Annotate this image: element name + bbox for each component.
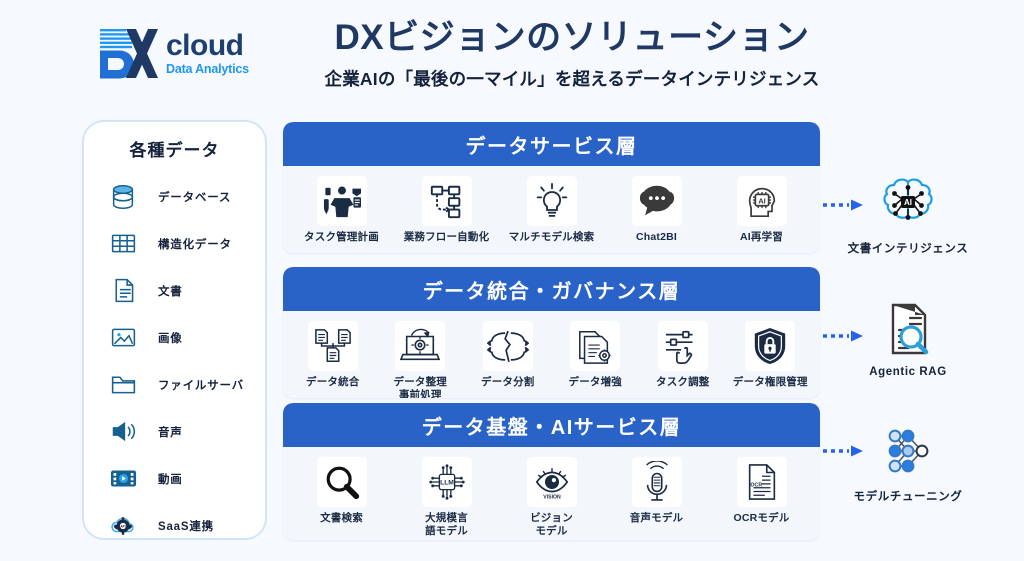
cell-label: 文書検索 xyxy=(320,512,363,525)
sidebar-item-structured-data[interactable]: 構造化データ xyxy=(84,220,265,267)
cell-label: 大規模言 語モデル xyxy=(425,512,468,538)
infographic-page: cloud Data Analytics DXビジョンのソリューション 企業AI… xyxy=(0,0,1024,561)
shield-lock-icon xyxy=(745,321,795,371)
layer-data-platform-ai: データ基盤・AIサービス層 文書検索 LLM xyxy=(283,403,820,540)
image-icon xyxy=(106,321,140,355)
vision-eye-icon: VISION xyxy=(527,457,577,507)
speaker-icon xyxy=(106,415,140,449)
svg-text:API: API xyxy=(120,524,125,528)
sidebar-item-database[interactable]: データベース xyxy=(84,173,265,220)
cell-workflow-automation[interactable]: 業務フロー自動化 xyxy=(401,176,493,244)
workflow-automation-icon xyxy=(422,176,472,226)
cell-label: データ増強 xyxy=(569,376,623,389)
sidebar-item-audio[interactable]: 音声 xyxy=(84,408,265,455)
cell-ocr-model[interactable]: OCR OCRモデル xyxy=(716,457,808,525)
output-model-tuning[interactable]: モデルチューニング xyxy=(833,420,983,504)
folder-icon xyxy=(106,368,140,402)
sidebar-item-label: 文書 xyxy=(158,283,183,299)
cell-label: Chat2BI xyxy=(636,231,677,244)
chat-headset-icon xyxy=(632,176,682,226)
magnifier-icon xyxy=(317,457,367,507)
cell-task-planning[interactable]: タスク管理計画 xyxy=(296,176,388,244)
cell-chat2bi[interactable]: Chat2BI xyxy=(611,176,703,244)
neural-network-icon xyxy=(877,420,939,482)
layer-title: データ基盤・AIサービス層 xyxy=(422,411,682,440)
cell-vision-model[interactable]: VISION ビジョン モデル xyxy=(506,457,598,538)
microphone-icon xyxy=(632,457,682,507)
lightbulb-icon xyxy=(527,176,577,226)
sidebar-item-saas[interactable]: API SaaS連携 xyxy=(84,502,265,549)
cell-label: データ権限管理 xyxy=(733,376,808,389)
layer-items: タスク管理計画 業務フロー自動化 xyxy=(283,166,820,253)
output-label: モデルチューニング xyxy=(854,488,963,504)
cell-data-preprocessing[interactable]: データ整理 事前処理 xyxy=(377,321,465,398)
cell-label: マルチモデル検索 xyxy=(509,231,595,244)
cloud-gear-icon: API xyxy=(106,509,140,543)
cell-data-integration[interactable]: データ統合 xyxy=(289,321,377,389)
svg-text:LLM: LLM xyxy=(440,479,454,486)
video-film-icon xyxy=(106,462,140,496)
sidebar-item-label: 構造化データ xyxy=(158,236,232,252)
cell-document-search[interactable]: 文書検索 xyxy=(296,457,388,525)
split-arrows-icon xyxy=(483,321,533,371)
cell-label: データ統合 xyxy=(306,376,360,389)
cell-label: OCRモデル xyxy=(733,512,789,525)
cell-multimodel-search[interactable]: マルチモデル検索 xyxy=(506,176,598,244)
layer-items: データ統合 データ整理 事前処理 xyxy=(283,311,820,398)
layer-header: データ統合・ガバナンス層 xyxy=(283,267,820,311)
cell-label: データ分割 xyxy=(481,376,535,389)
laptop-gear-icon xyxy=(395,321,445,371)
sidebar-item-label: SaaS連携 xyxy=(158,518,214,534)
cell-label: タスク管理計画 xyxy=(304,231,379,244)
task-planning-icon xyxy=(317,176,367,226)
sidebar-item-image[interactable]: 画像 xyxy=(84,314,265,361)
layer-header: データサービス層 xyxy=(283,122,820,166)
cell-label: 業務フロー自動化 xyxy=(404,231,490,244)
logo-wordmark: cloud Data Analytics xyxy=(166,31,249,76)
layer-header: データ基盤・AIサービス層 xyxy=(283,403,820,447)
sidebar-list: データベース 構造化データ xyxy=(84,173,265,549)
llm-chip-icon: LLM xyxy=(422,457,472,507)
ai-head-chip-icon: AI xyxy=(737,176,787,226)
brand-logo: cloud Data Analytics xyxy=(96,22,276,84)
sidebar-title: 各種データ xyxy=(84,136,265,161)
layer-title: データ統合・ガバナンス層 xyxy=(423,275,681,304)
svg-text:AI: AI xyxy=(904,198,912,207)
cell-task-adjustment[interactable]: タスク調整 xyxy=(639,321,727,389)
logo-tagline: Data Analytics xyxy=(166,63,249,76)
cell-speech-model[interactable]: 音声モデル xyxy=(611,457,703,525)
cell-label: データ整理 事前処理 xyxy=(394,376,448,398)
page-header: cloud Data Analytics DXビジョンのソリューション 企業AI… xyxy=(0,0,1024,110)
sidebar-item-label: 音声 xyxy=(158,424,183,440)
output-agentic-rag[interactable]: Agentic RAG xyxy=(833,298,983,378)
sidebar-item-label: 画像 xyxy=(158,330,183,346)
svg-text:OCR: OCR xyxy=(750,483,762,489)
dx-logo-icon xyxy=(96,25,158,81)
cell-label: タスク調整 xyxy=(656,376,710,389)
sidebar-item-video[interactable]: 動画 xyxy=(84,455,265,502)
cell-llm[interactable]: LLM 大規模言 語モデル xyxy=(401,457,493,538)
data-sources-panel: 各種データ データベース xyxy=(82,120,267,540)
cell-ai-retraining[interactable]: AI AI再学習 xyxy=(716,176,808,244)
cell-data-augmentation[interactable]: データ増強 xyxy=(552,321,640,389)
database-icon xyxy=(106,180,140,214)
document-icon xyxy=(106,274,140,308)
data-merge-icon xyxy=(308,321,358,371)
layer-data-governance: データ統合・ガバナンス層 xyxy=(283,267,820,398)
sidebar-item-document[interactable]: 文書 xyxy=(84,267,265,314)
sidebar-item-file-server[interactable]: ファイルサーバ xyxy=(84,361,265,408)
logo-word: cloud xyxy=(166,31,249,61)
page-title: DXビジョンのソリューション xyxy=(272,18,872,58)
brain-ai-icon: AI xyxy=(877,172,939,234)
title-block: DXビジョンのソリューション 企業AIの「最後の一マイル」を超えるデータインテリ… xyxy=(272,18,872,91)
output-label: 文書インテリジェンス xyxy=(848,240,969,256)
layer-items: 文書検索 LLM xyxy=(283,447,820,540)
cell-data-split[interactable]: データ分割 xyxy=(464,321,552,389)
table-grid-icon xyxy=(106,227,140,261)
page-subtitle: 企業AIの「最後の一マイル」を超えるデータインテリジェンス xyxy=(272,66,872,91)
cell-label: ビジョン モデル xyxy=(530,512,573,538)
svg-text:VISION: VISION xyxy=(543,495,561,501)
sidebar-item-label: 動画 xyxy=(158,471,183,487)
layer-data-service: データサービス層 xyxy=(283,122,820,253)
svg-text:AI: AI xyxy=(758,196,766,205)
cell-label: AI再学習 xyxy=(740,231,783,244)
output-label: Agentic RAG xyxy=(869,366,947,378)
ocr-document-icon: OCR xyxy=(737,457,787,507)
cell-label: 音声モデル xyxy=(630,512,684,525)
output-document-intelligence[interactable]: AI 文書インテリジェンス xyxy=(833,172,983,256)
document-search-icon xyxy=(877,298,939,360)
sidebar-item-label: ファイルサーバ xyxy=(158,377,244,393)
cell-data-permissions[interactable]: データ権限管理 xyxy=(727,321,815,389)
sidebar-item-label: データベース xyxy=(158,189,231,205)
layer-title: データサービス層 xyxy=(466,130,638,159)
sliders-hand-icon xyxy=(658,321,708,371)
docs-gear-icon xyxy=(570,321,620,371)
